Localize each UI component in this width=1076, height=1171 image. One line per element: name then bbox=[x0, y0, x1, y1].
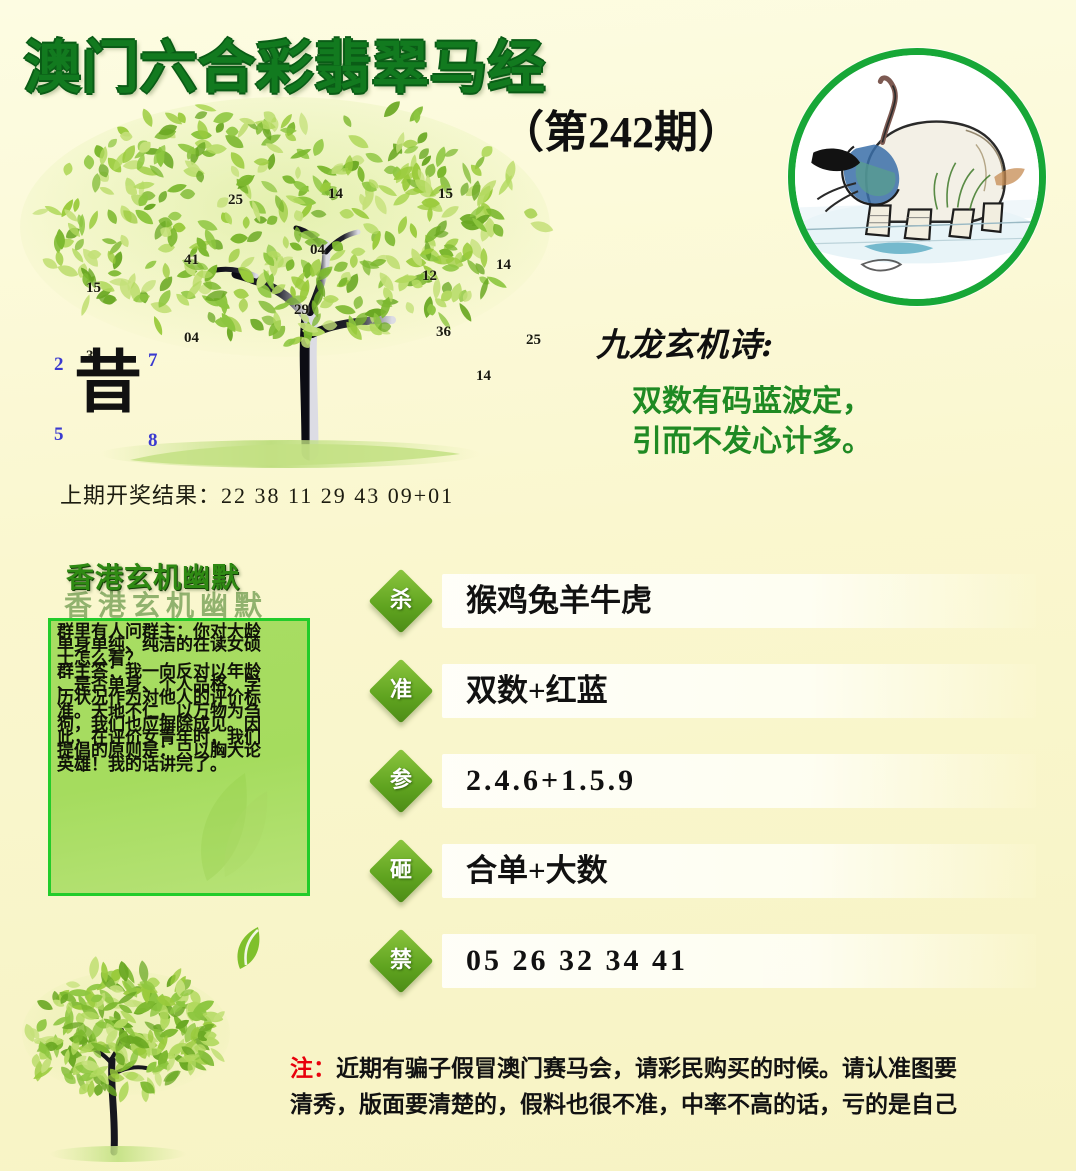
character-block: 2 7 昔 5 8 bbox=[52, 348, 172, 456]
decorative-tree-bottom bbox=[18, 928, 248, 1166]
corner-number-bottom-right: 8 bbox=[148, 430, 158, 452]
poem-line-1: 双数有码蓝波定， bbox=[632, 382, 872, 422]
prediction-value: 合单+大数 bbox=[466, 848, 608, 894]
illustration-circle bbox=[788, 48, 1046, 306]
tree-number: 15 bbox=[86, 280, 101, 297]
tree-number: 25 bbox=[228, 192, 243, 209]
tree-number: 04 bbox=[310, 242, 325, 259]
tree-number: 29 bbox=[294, 302, 309, 319]
prediction-rows: 杀猴鸡兔羊牛虎准双数+红蓝参2.4.6+1.5.9砸合单+大数禁05 26 32… bbox=[370, 572, 1040, 1022]
tree-number: 25 bbox=[526, 332, 541, 349]
leaf-decoration-icon bbox=[177, 757, 297, 887]
poster-root: 2514154104151214290436253414 澳门六合彩翡翠马经 （… bbox=[0, 0, 1076, 1171]
prediction-badge-label: 砸 bbox=[378, 848, 424, 894]
humor-text-box: 群里有人问群主：你对大龄单身单纯、纯洁的在读女硕士怎么看？群主答：我一向反对以年… bbox=[48, 618, 310, 896]
floating-leaf-icon bbox=[232, 925, 266, 971]
prediction-value: 2.4.6+1.5.9 bbox=[466, 758, 636, 804]
prediction-badge[interactable]: 禁 bbox=[368, 928, 433, 993]
prediction-badge[interactable]: 准 bbox=[368, 658, 433, 723]
tree-number: 15 bbox=[438, 186, 453, 203]
corner-number-top-left: 2 bbox=[54, 354, 64, 376]
prediction-badge-label: 准 bbox=[378, 668, 424, 714]
prediction-row: 砸合单+大数 bbox=[370, 842, 1040, 932]
tree-number: 41 bbox=[184, 252, 199, 269]
poem-body: 双数有码蓝波定， 引而不发心计多。 bbox=[632, 382, 872, 461]
prediction-row: 禁05 26 32 34 41 bbox=[370, 932, 1040, 1022]
humor-title: 香港玄机幽默 bbox=[66, 556, 240, 596]
prediction-row: 杀猴鸡兔羊牛虎 bbox=[370, 572, 1040, 662]
prediction-badge[interactable]: 杀 bbox=[368, 568, 433, 633]
page-title: 澳门六合彩翡翠马经 bbox=[24, 22, 546, 104]
last-draw-label: 上期开奖结果： bbox=[60, 483, 221, 508]
poem-line-2: 引而不发心计多。 bbox=[632, 422, 872, 462]
tree-number: 12 bbox=[422, 268, 437, 285]
humor-line: 英雄！我的话讲完了。 bbox=[57, 758, 301, 771]
prediction-row: 参2.4.6+1.5.9 bbox=[370, 752, 1040, 842]
last-draw-numbers: 22 38 11 29 43 09+01 bbox=[221, 483, 454, 508]
tree-number: 14 bbox=[496, 257, 511, 274]
prediction-badge-label: 禁 bbox=[378, 938, 424, 984]
tree-number: 14 bbox=[476, 368, 491, 385]
poem-title: 九龙玄机诗: bbox=[596, 318, 773, 366]
tree-number: 04 bbox=[184, 330, 199, 347]
corner-number-bottom-left: 5 bbox=[54, 424, 64, 446]
prediction-badge-label: 参 bbox=[378, 758, 424, 804]
prediction-value: 猴鸡兔羊牛虎 bbox=[466, 578, 652, 624]
note-line-2: 清秀，版面要清楚的，假料也很不准，中率不高的话，亏的是自己 bbox=[290, 1088, 1060, 1124]
prediction-value: 05 26 32 34 41 bbox=[466, 938, 688, 984]
note-tag: 注： bbox=[290, 1056, 336, 1082]
prediction-badge-label: 杀 bbox=[378, 578, 424, 624]
humor-text: 群里有人问群主：你对大龄单身单纯、纯洁的在读女硕士怎么看？群主答：我一向反对以年… bbox=[51, 621, 307, 771]
center-character: 昔 bbox=[74, 350, 142, 418]
prediction-badge[interactable]: 参 bbox=[368, 748, 433, 813]
prediction-badge[interactable]: 砸 bbox=[368, 838, 433, 903]
tree-number: 14 bbox=[328, 186, 343, 203]
prediction-value: 双数+红蓝 bbox=[466, 668, 608, 714]
corner-number-top-right: 7 bbox=[148, 350, 158, 372]
note-line-1: 近期有骗子假冒澳门赛马会，请彩民购买的时候。请认准图要 bbox=[336, 1056, 957, 1082]
issue-number: （第242期） bbox=[500, 96, 742, 160]
tree-number: 36 bbox=[436, 324, 451, 341]
prediction-row: 准双数+红蓝 bbox=[370, 662, 1040, 752]
last-draw-result: 上期开奖结果：22 38 11 29 43 09+01 bbox=[60, 478, 454, 510]
bottom-note: 注：近期有骗子假冒澳门赛马会，请彩民购买的时候。请认准图要 清秀，版面要清楚的，… bbox=[290, 1052, 1060, 1123]
